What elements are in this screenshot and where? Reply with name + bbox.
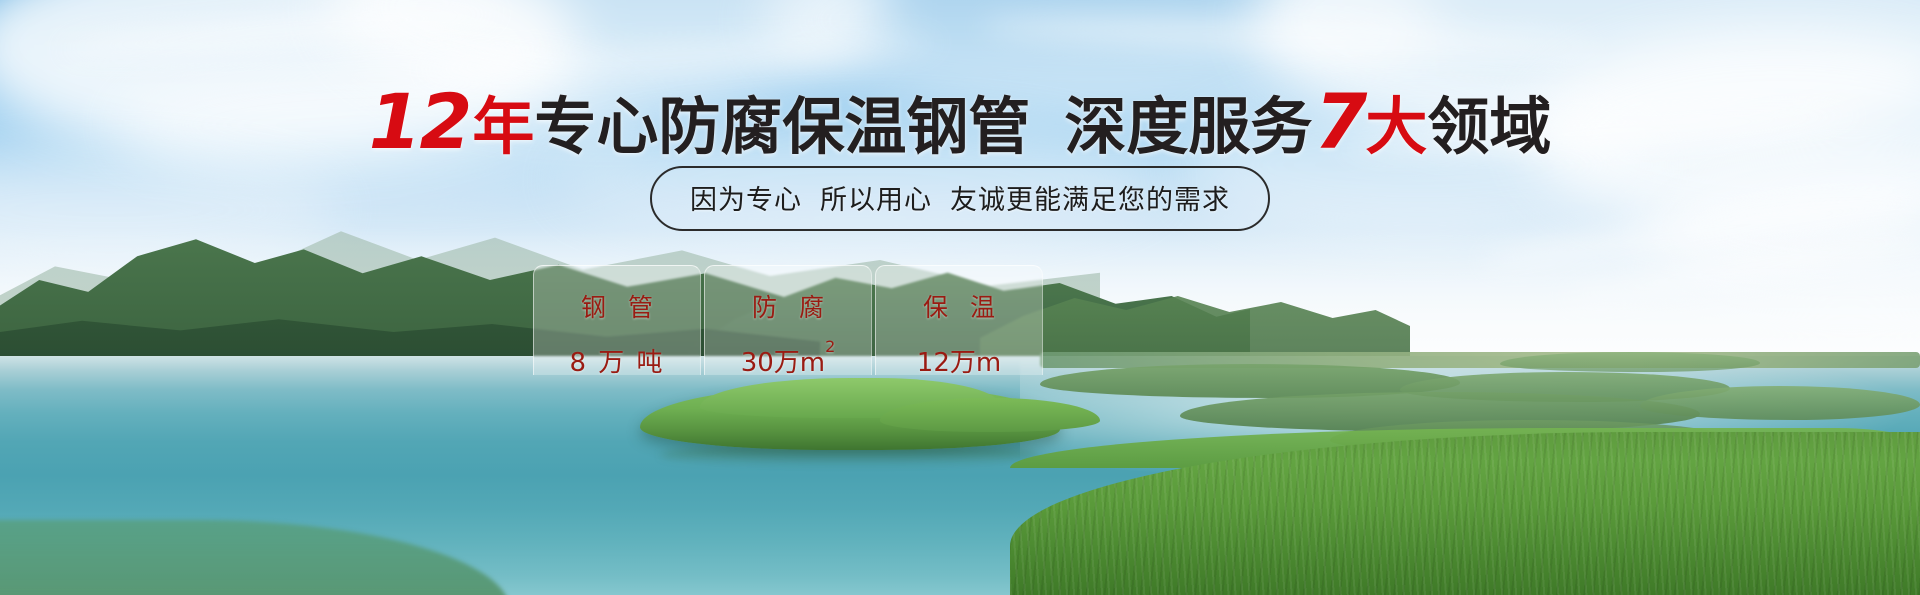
stat-card-value: 30万m2 [741,342,836,379]
subtitle-part-3: 友诚更能满足您的需求 [950,185,1230,216]
stat-card-title: 防 腐 [745,288,831,324]
stat-card-insulation[interactable]: 保 温 12万m [875,265,1043,375]
banner-headline: 12年专心防腐保温钢管深度服务7大领域 [0,84,1920,160]
subtitle-part-2: 所以用心 [820,185,932,216]
stat-card-value-text: 8 万 吨 [569,348,664,378]
banner-subtitle-pill: 因为专心所以用心友诚更能满足您的需求 [650,166,1270,231]
stat-card-value-text: 30万m [741,348,825,378]
headline-years-unit: 年 [472,90,534,163]
stat-card-value-text: 12万m [917,348,1001,378]
stat-card-value: 12万m [917,342,1001,379]
stat-card-anticorrosion[interactable]: 防 腐 30万m2 [704,265,872,375]
stat-card-title: 钢 管 [574,288,660,324]
marsh-patch [1640,386,1920,420]
stat-card-value: 8 万 吨 [569,342,664,379]
stat-card-steel-pipe[interactable]: 钢 管 8 万 吨 [533,265,701,375]
headline-fields-big: 大 [1365,90,1427,163]
stat-card-value-superscript: 2 [825,337,835,356]
subtitle-part-1: 因为专心 [690,185,802,216]
marsh-patch [1500,352,1760,372]
stat-card-title: 保 温 [916,288,1002,324]
headline-fields-number: 7 [1314,77,1365,166]
headline-years-number: 12 [369,77,471,166]
headline-service-text: 深度服务 [1064,90,1312,163]
headline-main-text: 专心防腐保温钢管 [534,90,1030,163]
headline-fields-text: 领域 [1427,90,1551,163]
stat-card-group: 钢 管 8 万 吨 防 腐 30万m2 保 温 12万m [533,265,1043,375]
hero-banner: 12年专心防腐保温钢管深度服务7大领域 因为专心所以用心友诚更能满足您的需求 钢… [0,0,1920,595]
